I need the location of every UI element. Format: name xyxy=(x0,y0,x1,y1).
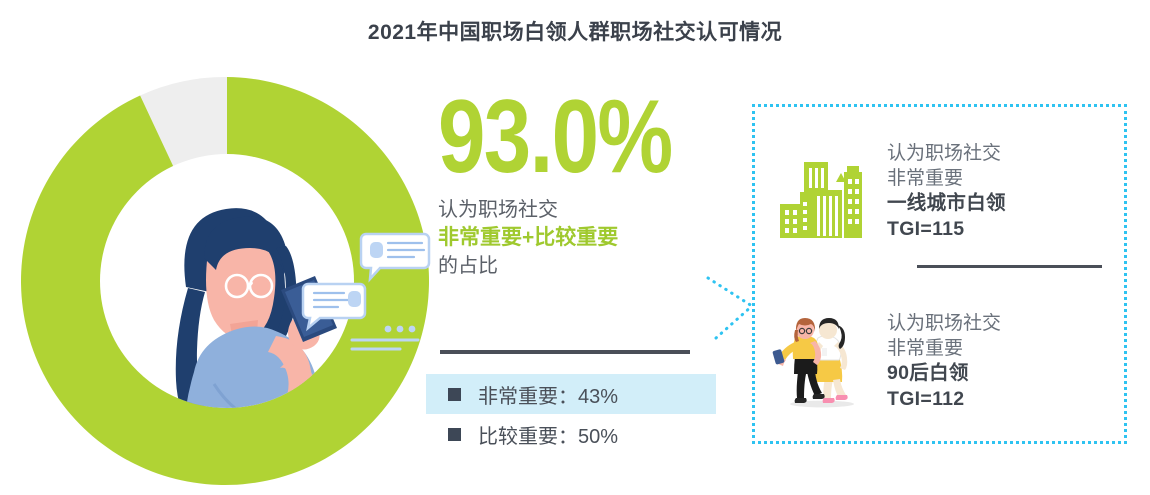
callout-line-1: 认为职场社交 xyxy=(887,141,1130,166)
callout-tgi-value: TGI=115 xyxy=(887,217,1130,243)
two-women-walking-icon xyxy=(755,312,885,412)
callout-line-2: 非常重要 xyxy=(887,166,1130,191)
callout-tgi-value: TGI=112 xyxy=(887,387,1130,413)
donut-svg xyxy=(18,72,436,490)
callout-text: 认为职场社交 非常重要 一线城市白领 TGI=115 xyxy=(885,141,1130,243)
legend: 非常重要：43% 比较重要：50% xyxy=(426,374,716,454)
legend-swatch-icon xyxy=(448,428,461,441)
legend-item-fairly-important[interactable]: 比较重要：50% xyxy=(426,414,716,454)
page-title: 2021年中国职场白领人群职场社交认可情况 xyxy=(0,16,1150,46)
legend-swatch-icon xyxy=(448,388,461,401)
legend-item-very-important[interactable]: 非常重要：43% xyxy=(426,374,716,414)
stat-divider xyxy=(440,350,690,354)
stat-line-1: 认为职场社交 xyxy=(438,197,708,225)
stat-description: 认为职场社交 非常重要+比较重要 的占比 xyxy=(438,197,708,281)
callout-post90s: 认为职场社交 非常重要 90后白领 TGI=112 xyxy=(755,277,1130,447)
callout-panel: 认为职场社交 非常重要 一线城市白领 TGI=115 xyxy=(752,104,1127,444)
callout-text: 认为职场社交 非常重要 90后白领 TGI=112 xyxy=(885,311,1130,413)
donut-hole xyxy=(100,154,354,408)
callout-line-2: 非常重要 xyxy=(887,336,1130,361)
callout-line-3: 90后白领 xyxy=(887,361,1130,387)
legend-label: 比较重要：50% xyxy=(478,420,618,449)
donut-chart xyxy=(18,72,436,490)
callout-line-1: 认为职场社交 xyxy=(887,311,1130,336)
callout-line-3: 一线城市白领 xyxy=(887,191,1130,217)
stat-line-3: 的占比 xyxy=(438,253,708,281)
callout-divider xyxy=(917,265,1102,268)
stat-block: 93.0% 认为职场社交 非常重要+比较重要 的占比 xyxy=(438,88,708,281)
city-buildings-icon xyxy=(755,146,885,238)
legend-label: 非常重要：43% xyxy=(478,380,618,409)
headline-percentage: 93.0% xyxy=(438,88,659,187)
callout-tier1-city: 认为职场社交 非常重要 一线城市白领 TGI=115 xyxy=(755,107,1130,277)
stat-line-2: 非常重要+比较重要 xyxy=(438,224,708,253)
